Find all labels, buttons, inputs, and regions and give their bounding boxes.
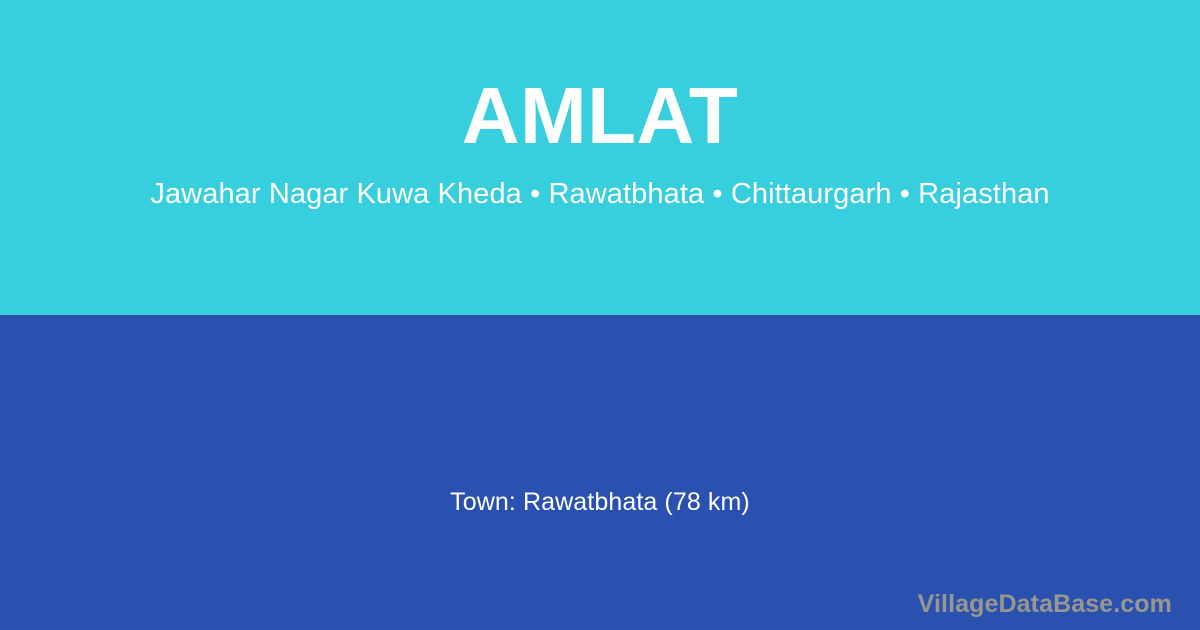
page-title: AMLAT xyxy=(462,76,738,156)
village-info-card: AMLAT Jawahar Nagar Kuwa Kheda • Rawatbh… xyxy=(0,0,1200,630)
breadcrumb: Jawahar Nagar Kuwa Kheda • Rawatbhata • … xyxy=(150,178,1049,211)
site-watermark: VillageDataBase.com xyxy=(918,591,1172,619)
header-band: AMLAT Jawahar Nagar Kuwa Kheda • Rawatbh… xyxy=(0,0,1200,315)
details-band: Town: Rawatbhata (78 km) VillageDataBase… xyxy=(0,315,1200,630)
nearest-town-detail: Town: Rawatbhata (78 km) xyxy=(0,487,1200,517)
